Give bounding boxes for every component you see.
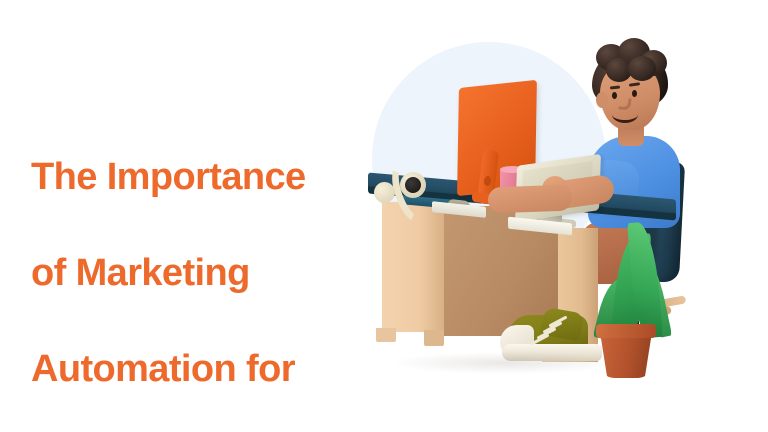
- person-forearm-left: [488, 185, 573, 214]
- person-ear: [596, 92, 608, 108]
- plant-pot-rim: [596, 324, 656, 338]
- desk-foot: [424, 330, 444, 346]
- hero-illustration: [360, 0, 768, 432]
- headline-line-2: of Marketing: [31, 249, 376, 297]
- person-eye-left: [612, 92, 617, 99]
- headphones-earcup: [374, 182, 395, 203]
- plant-pot: [600, 332, 652, 378]
- page-title: The Importance of Marketing Automation f…: [31, 105, 376, 432]
- desk-foot: [376, 328, 396, 342]
- person-hair-curl: [628, 56, 656, 81]
- person-eye-right: [632, 90, 637, 97]
- headline-line-3: Automation for: [31, 345, 376, 393]
- floor-shadow: [390, 352, 620, 374]
- headphones-earpad: [405, 177, 421, 193]
- person-smile: [612, 106, 638, 123]
- blog-header-banner: The Importance of Marketing Automation f…: [0, 0, 768, 432]
- headline-line-1: The Importance: [31, 153, 376, 201]
